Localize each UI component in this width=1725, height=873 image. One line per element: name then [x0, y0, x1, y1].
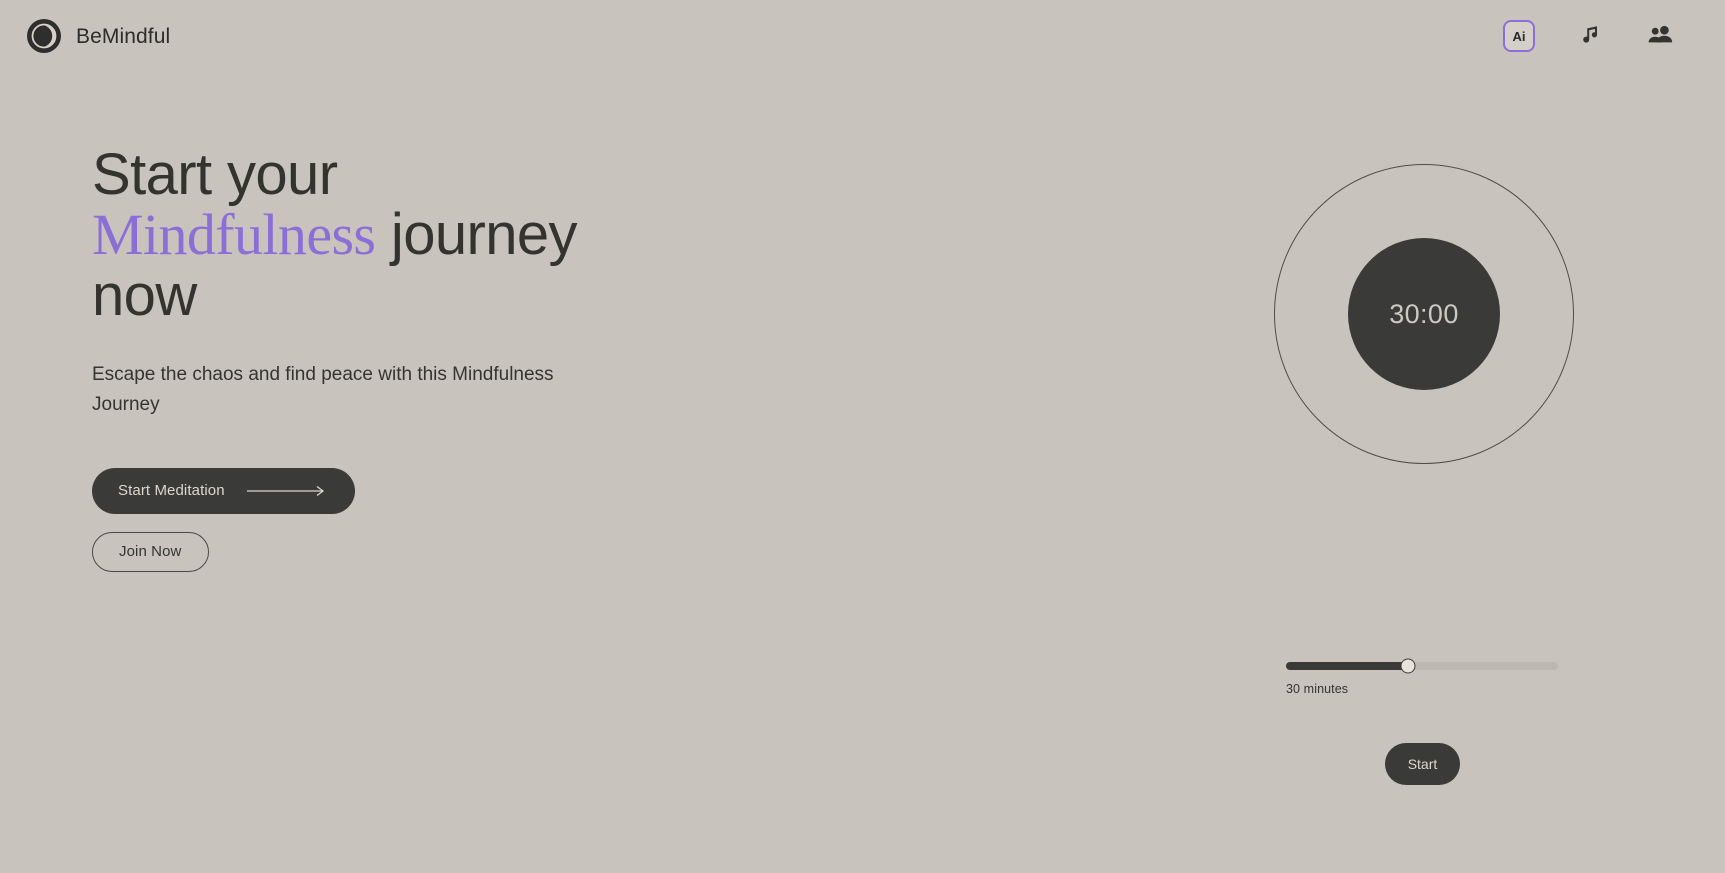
- hero-cta-group: Start Meditation Join Now: [92, 468, 792, 572]
- ai-badge-label: Ai: [1513, 30, 1526, 43]
- join-now-label: Join Now: [119, 543, 182, 560]
- hero-section: Start yourMindfulness journeynow Escape …: [92, 145, 792, 572]
- meditation-timer[interactable]: 30:00: [1274, 164, 1574, 464]
- headline-line-3: now: [92, 263, 197, 328]
- brand-block[interactable]: BeMindful: [26, 18, 170, 54]
- music-button[interactable]: [1575, 21, 1605, 51]
- arrow-right-icon: [247, 485, 329, 497]
- page-title: Start yourMindfulness journeynow: [92, 145, 792, 326]
- start-meditation-button[interactable]: Start Meditation: [92, 468, 355, 514]
- header-actions: Ai: [1503, 20, 1699, 52]
- duration-slider-fill: [1286, 662, 1408, 670]
- headline-line-1: Start your: [92, 142, 337, 207]
- community-button[interactable]: [1645, 21, 1675, 51]
- headline-line-2-rest: journey: [375, 202, 577, 267]
- start-timer-button[interactable]: Start: [1385, 743, 1460, 785]
- join-now-button[interactable]: Join Now: [92, 532, 209, 572]
- hero-subtitle: Escape the chaos and find peace with thi…: [92, 360, 562, 420]
- timer-core: 30:00: [1348, 238, 1500, 390]
- music-note-icon: [1578, 23, 1602, 50]
- start-timer-label: Start: [1408, 756, 1438, 772]
- duration-slider[interactable]: [1286, 662, 1558, 670]
- headline-accent-word: Mindfulness: [92, 202, 375, 267]
- start-meditation-label: Start Meditation: [118, 482, 225, 499]
- duration-slider-block: 30 minutes: [1286, 662, 1558, 696]
- brand-name: BeMindful: [76, 26, 170, 47]
- ai-assistant-button[interactable]: Ai: [1503, 20, 1535, 52]
- crescent-moon-logo-icon: [26, 18, 62, 54]
- timer-display: 30:00: [1389, 299, 1459, 330]
- duration-label: 30 minutes: [1286, 682, 1558, 696]
- app-header: BeMindful Ai: [0, 0, 1725, 72]
- people-group-icon: [1647, 23, 1673, 50]
- duration-slider-thumb[interactable]: [1401, 659, 1416, 674]
